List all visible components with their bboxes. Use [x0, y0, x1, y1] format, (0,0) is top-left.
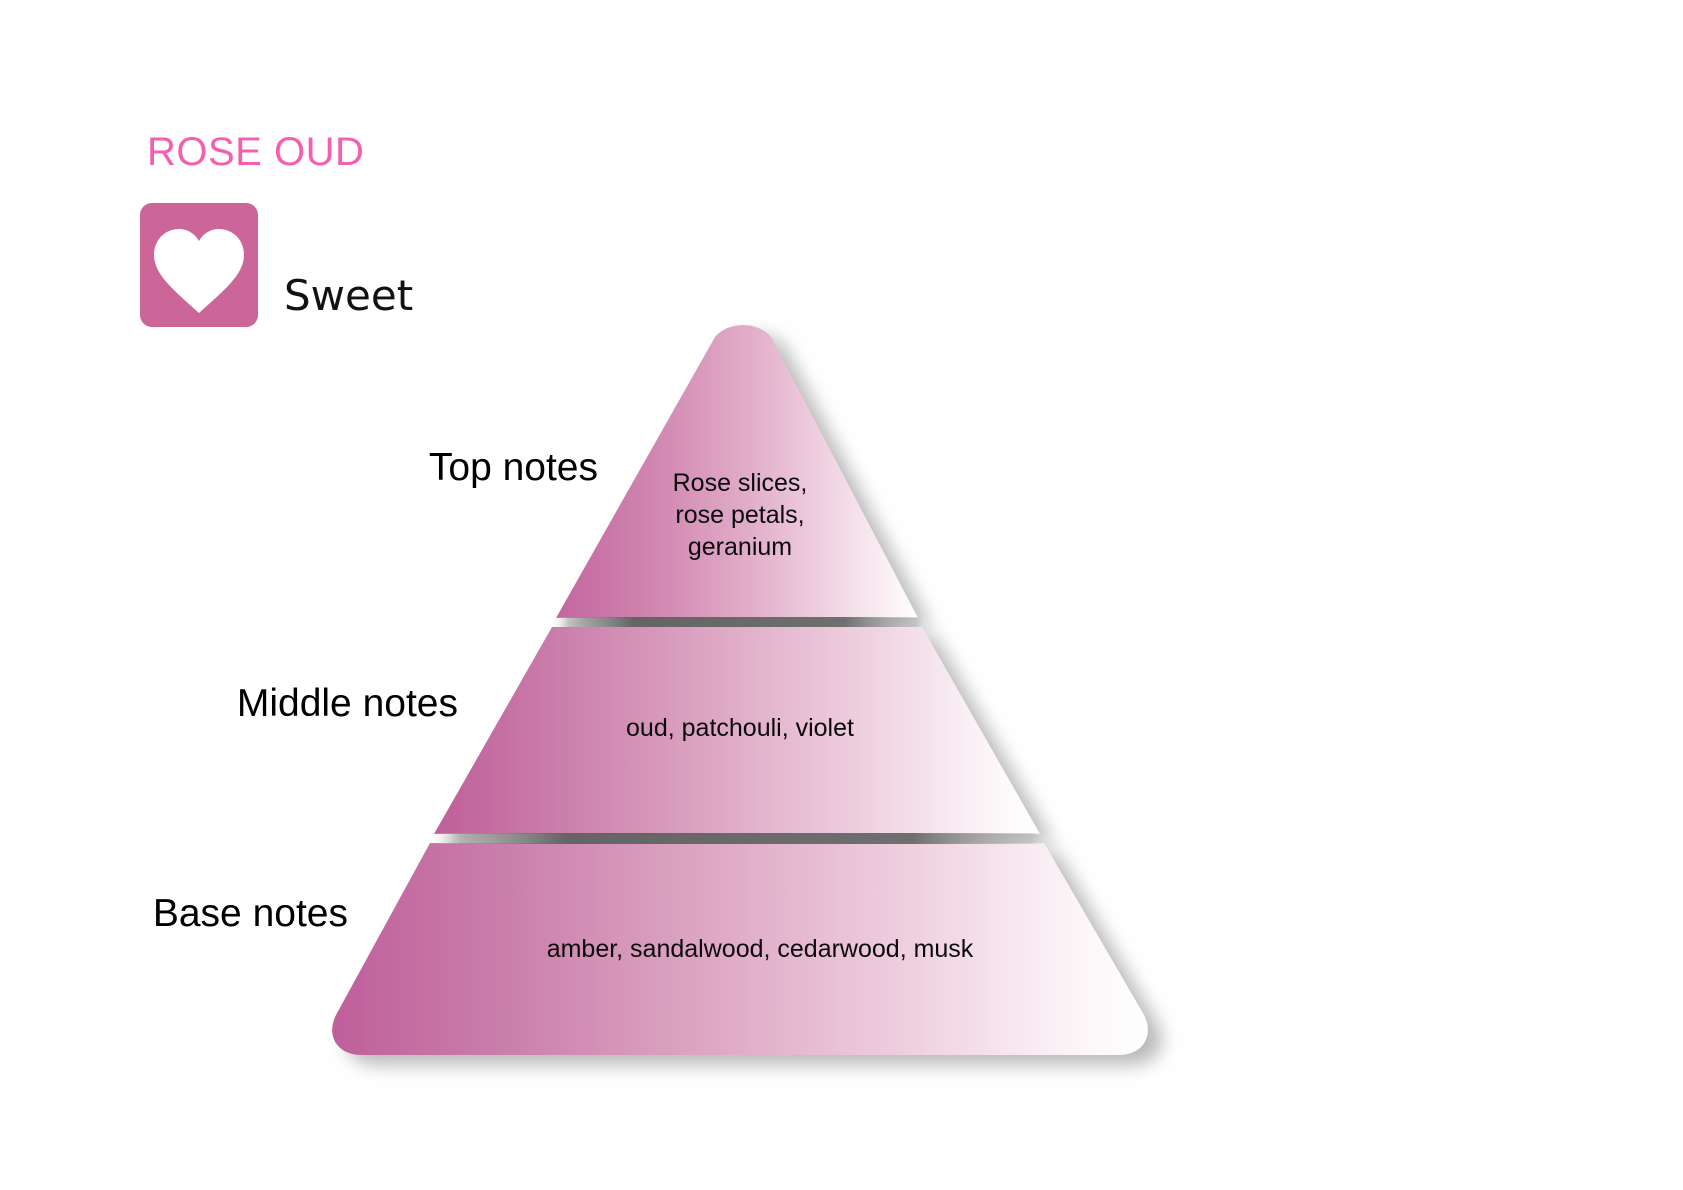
notes-text-top: Rose slices, rose petals, geranium	[600, 467, 880, 563]
page-title: ROSE OUD	[147, 132, 364, 172]
heart-icon	[140, 203, 258, 327]
accord-label: Sweet	[284, 275, 413, 317]
notes-text-middle: oud, patchouli, violet	[490, 712, 990, 744]
notes-text-base: amber, sandalwood, cedarwood, musk	[430, 933, 1090, 965]
pyramid-divider-top	[550, 617, 928, 627]
accord-badge[interactable]	[140, 203, 258, 327]
pyramid-divider-middle	[428, 833, 1050, 844]
fragrance-pyramid-canvas: ROSE OUD Sweet Top notes Middle notes Ba…	[0, 0, 1683, 1190]
